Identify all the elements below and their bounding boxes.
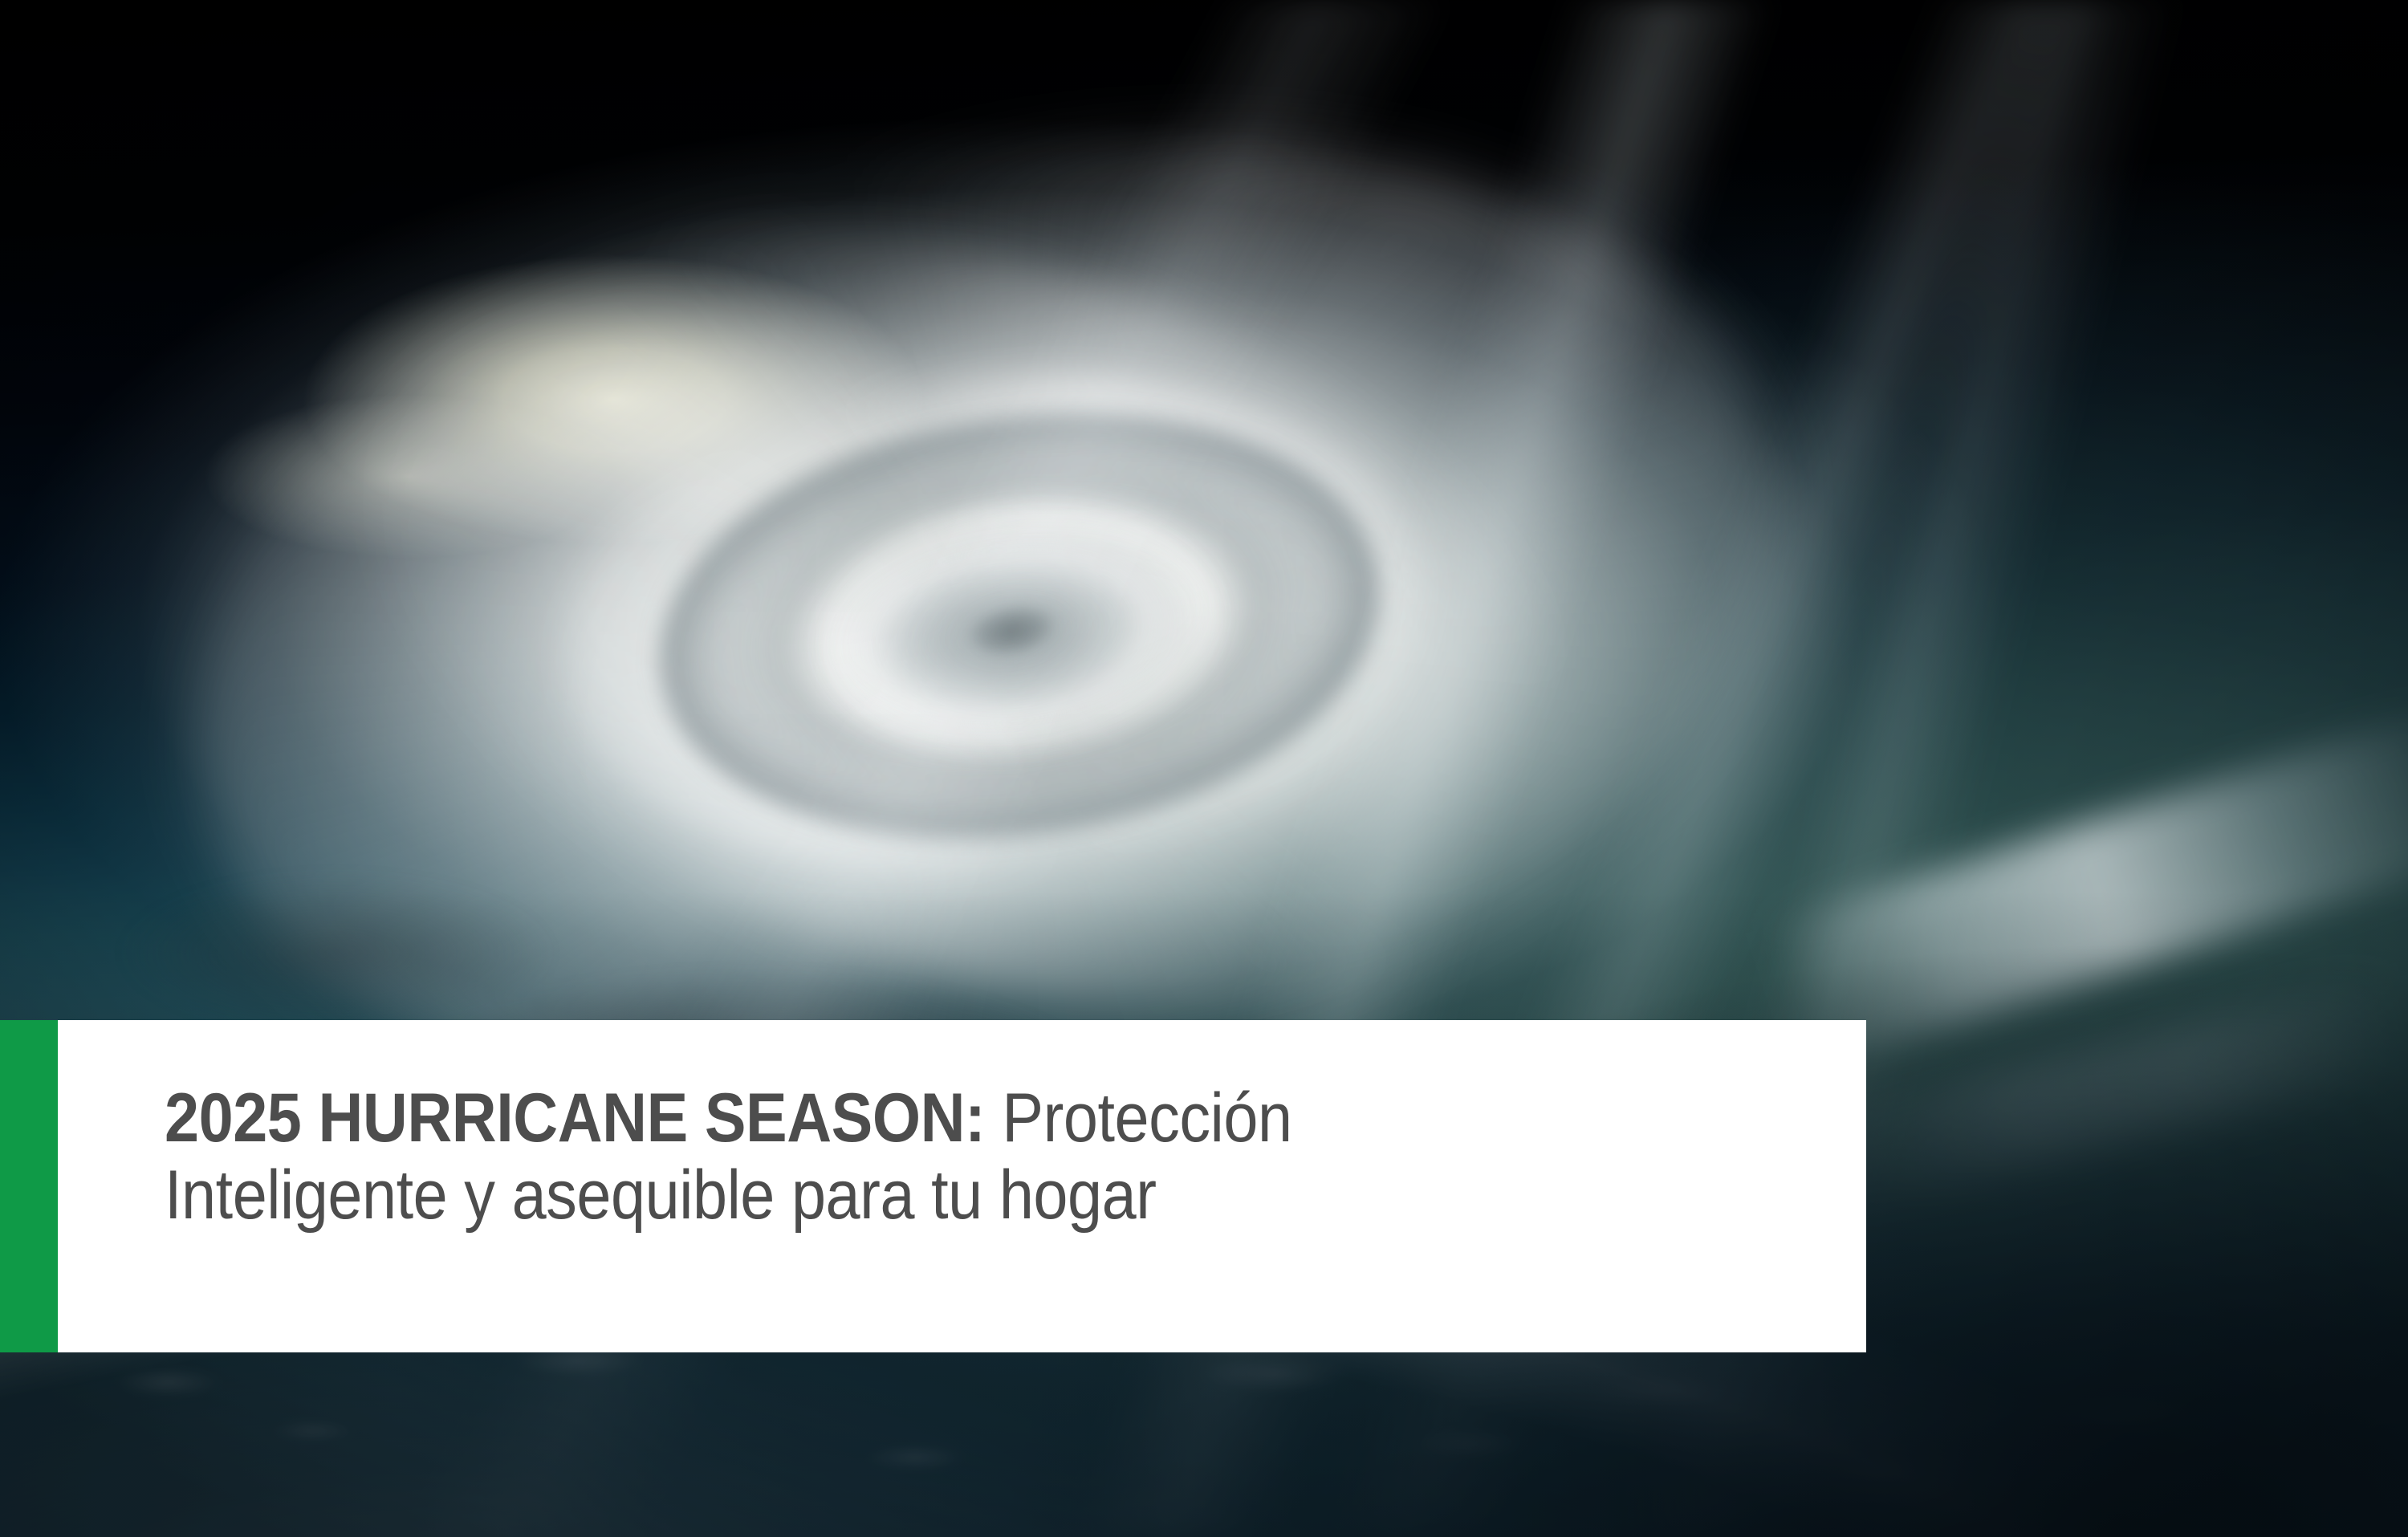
green-accent-bar xyxy=(0,1020,58,1352)
headline-light-part: Protección xyxy=(985,1080,1291,1157)
caption-text-block: 2025 HURRICANE SEASON: Protección Inteli… xyxy=(165,1084,1834,1230)
hero-banner-image: 2025 HURRICANE SEASON: Protección Inteli… xyxy=(0,0,2408,1537)
subheadline: Inteligente y asequible para tu hogar xyxy=(165,1161,1667,1230)
headline-bold-part: 2025 HURRICANE SEASON: xyxy=(165,1080,985,1157)
headline: 2025 HURRICANE SEASON: Protección xyxy=(165,1084,1667,1153)
caption-banner-body: 2025 HURRICANE SEASON: Protección Inteli… xyxy=(58,1020,1866,1352)
caption-banner: 2025 HURRICANE SEASON: Protección Inteli… xyxy=(0,1020,1866,1352)
